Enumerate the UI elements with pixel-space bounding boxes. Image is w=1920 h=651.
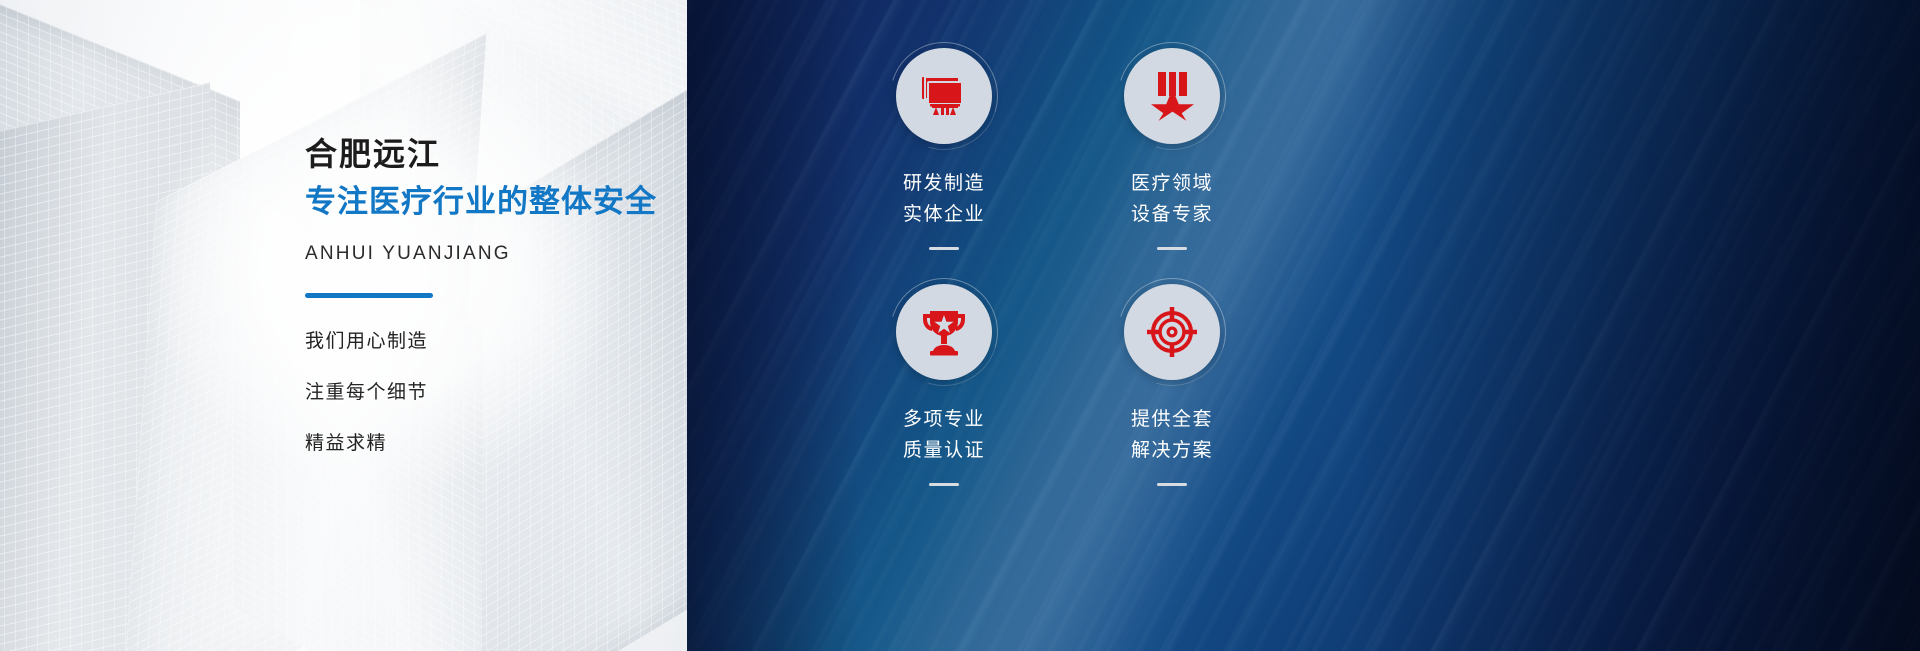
- feature-item-quality-certification[interactable]: 多项专业 质量认证: [830, 284, 1058, 520]
- right-feature-panel: 研发制造 实体企业: [687, 0, 1920, 651]
- feature-label-line2: 解决方案: [1131, 435, 1213, 466]
- icon-wrapper: [1124, 48, 1220, 144]
- company-name-pinyin: ANHUI YUANJIANG: [305, 243, 685, 265]
- factory-icon: [919, 75, 969, 117]
- company-name: 合肥远江: [305, 134, 685, 174]
- feature-label: 医疗领域 设备专家: [1131, 168, 1213, 231]
- slogan-list: 我们用心制造 注重每个细节 精益求精: [305, 332, 685, 453]
- feature-label: 研发制造 实体企业: [903, 168, 985, 231]
- trophy-icon: [919, 308, 969, 356]
- icon-circle: [896, 48, 992, 144]
- icon-circle: [1124, 48, 1220, 144]
- feature-underline: [1157, 247, 1187, 250]
- left-photo-panel: 合肥远江 专注医疗行业的整体安全 ANHUI YUANJIANG 我们用心制造 …: [0, 0, 687, 651]
- target-icon: [1146, 306, 1198, 358]
- promo-banner: 合肥远江 专注医疗行业的整体安全 ANHUI YUANJIANG 我们用心制造 …: [0, 0, 1920, 651]
- feature-grid: 研发制造 实体企业: [830, 48, 1250, 520]
- right-vignette: [1353, 0, 1920, 651]
- icon-circle: [1124, 284, 1220, 380]
- headline-block: 合肥远江 专注医疗行业的整体安全 ANHUI YUANJIANG 我们用心制造 …: [305, 134, 685, 453]
- feature-label-line1: 提供全套: [1131, 404, 1213, 435]
- medal-star-icon: [1150, 71, 1194, 121]
- feature-item-full-solution[interactable]: 提供全套 解决方案: [1058, 284, 1286, 520]
- feature-label-line1: 医疗领域: [1131, 168, 1213, 199]
- feature-label-line1: 多项专业: [903, 404, 985, 435]
- slogan-item: 注重每个细节: [305, 383, 685, 402]
- company-tagline: 专注医疗行业的整体安全: [305, 183, 685, 222]
- slogan-item: 我们用心制造: [305, 332, 685, 351]
- icon-wrapper: [896, 48, 992, 144]
- feature-label-line2: 设备专家: [1131, 199, 1213, 230]
- icon-wrapper: [1124, 284, 1220, 380]
- feature-label: 多项专业 质量认证: [903, 404, 985, 467]
- feature-label-line2: 质量认证: [903, 435, 985, 466]
- feature-label: 提供全套 解决方案: [1131, 404, 1213, 467]
- feature-underline: [1157, 483, 1187, 486]
- slogan-item: 精益求精: [305, 434, 685, 453]
- accent-divider: [305, 293, 433, 298]
- feature-item-rd-manufacturing[interactable]: 研发制造 实体企业: [830, 48, 1058, 284]
- icon-wrapper: [896, 284, 992, 380]
- feature-label-line1: 研发制造: [903, 168, 985, 199]
- feature-underline: [929, 483, 959, 486]
- icon-circle: [896, 284, 992, 380]
- feature-label-line2: 实体企业: [903, 199, 985, 230]
- feature-item-medical-expert[interactable]: 医疗领域 设备专家: [1058, 48, 1286, 284]
- feature-underline: [929, 247, 959, 250]
